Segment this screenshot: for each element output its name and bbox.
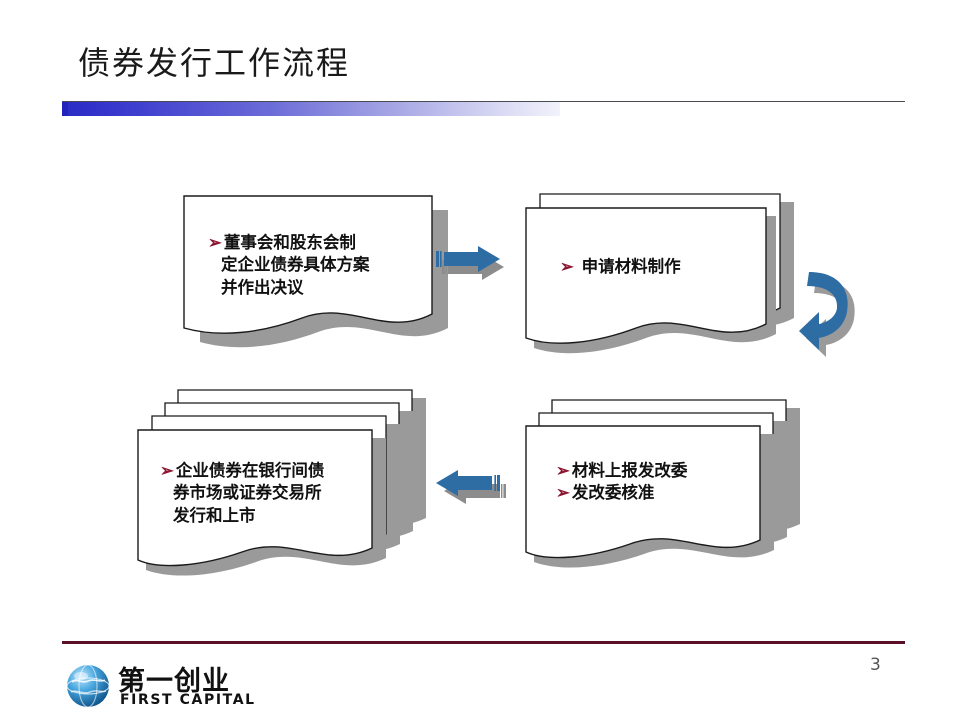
globe-icon (64, 662, 112, 710)
bullet-arrow-icon: ➢ (208, 233, 222, 252)
flow-step-4-line-3: 发行和上市 (160, 505, 324, 527)
flow-step-4[interactable]: ➢企业债券在银行间债 券市场或证券交易所 发行和上市 (132, 386, 442, 586)
flow-step-2-text: ➢ 申请材料制作 (560, 256, 681, 278)
flow-step-2-line-1: ➢ 申请材料制作 (560, 256, 681, 278)
bullet-arrow-icon: ➢ (556, 461, 570, 480)
page-number: 3 (870, 655, 881, 675)
flow-step-2[interactable]: ➢ 申请材料制作 (518, 190, 808, 366)
bullet-arrow-icon: ➢ (160, 461, 174, 480)
flow-step-1[interactable]: ➢董事会和股东会制 定企业债券具体方案 并作出决议 (182, 194, 446, 354)
flow-step-3-text: ➢材料上报发改委 ➢发改委核准 (556, 460, 687, 505)
page-title: 债券发行工作流程 (78, 38, 350, 84)
bullet-arrow-icon: ➢ (560, 257, 574, 276)
bullet-arrow-icon: ➢ (556, 483, 570, 502)
title-accent-bar (62, 102, 560, 116)
flow-step-1-text: ➢董事会和股东会制 定企业债券具体方案 并作出决议 (208, 232, 370, 299)
connector-arrow-curved-down (795, 268, 867, 378)
flow-step-4-line-2: 券市场或证券交易所 (160, 482, 324, 504)
connector-arrow-left (436, 470, 512, 516)
flow-step-3[interactable]: ➢材料上报发改委 ➢发改委核准 (518, 396, 818, 576)
flow-step-4-line-1: ➢企业债券在银行间债 (160, 460, 324, 482)
connector-arrow-right (436, 246, 512, 292)
slide-canvas: 债券发行工作流程 ➢董事会和股东会制 定企业债券具体方案 并作出决议 (0, 0, 960, 720)
flow-step-1-line-3: 并作出决议 (208, 277, 370, 299)
flow-step-4-text: ➢企业债券在银行间债 券市场或证券交易所 发行和上市 (160, 460, 324, 527)
footer-rule (62, 641, 905, 644)
company-logo: 第一创业 FIRST CAPITAL (62, 659, 258, 713)
flow-step-1-line-2: 定企业债券具体方案 (208, 254, 370, 276)
flow-step-1-line-1: ➢董事会和股东会制 (208, 232, 370, 254)
logo-name-en: FIRST CAPITAL (120, 692, 256, 708)
flow-step-3-line-1: ➢材料上报发改委 (556, 460, 687, 482)
flow-step-3-line-2: ➢发改委核准 (556, 482, 687, 504)
title-accent-bar-cap (62, 102, 68, 116)
